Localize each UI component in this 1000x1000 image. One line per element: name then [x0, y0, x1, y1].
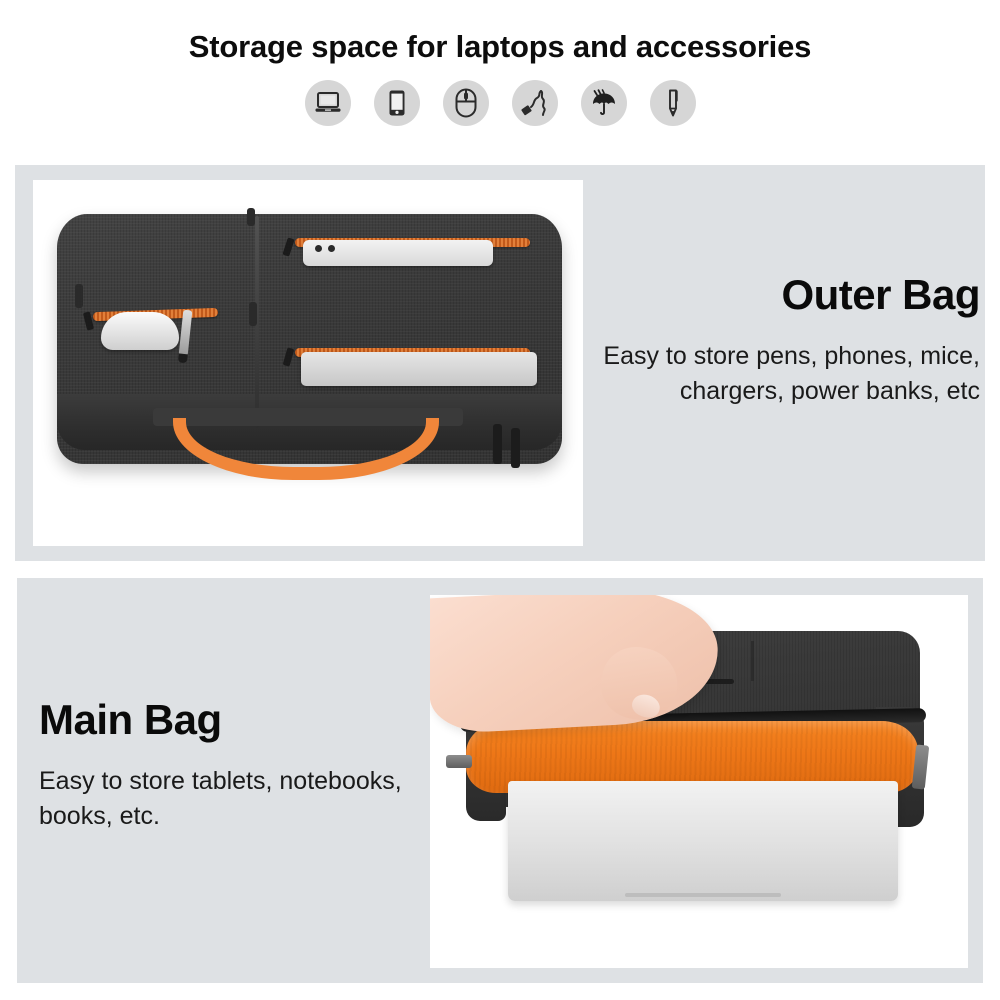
main-zipper-pull-left — [446, 755, 472, 768]
zipper-tab-mid — [249, 302, 257, 326]
feature-icon-row — [0, 80, 1000, 126]
top-tab — [247, 208, 255, 226]
main-bag-copy: Main Bag Easy to store tablets, notebook… — [39, 698, 409, 833]
page-title: Storage space for laptops and accessorie… — [0, 30, 1000, 64]
phone-in-pocket — [303, 240, 493, 266]
outer-bag-heading: Outer Bag — [590, 273, 980, 317]
umbrella-icon — [581, 80, 627, 126]
zipper-tab-left — [75, 284, 83, 308]
header: Storage space for laptops and accessorie… — [0, 0, 1000, 126]
laptop-icon — [305, 80, 351, 126]
charger-icon — [512, 80, 558, 126]
tablet-in-pocket — [301, 352, 537, 386]
carry-handle — [173, 418, 439, 480]
pen-icon — [650, 80, 696, 126]
laptop-inserted — [508, 781, 898, 901]
main-bag-heading: Main Bag — [39, 698, 409, 742]
outer-bag-body: Easy to store pens, phones, mice, charge… — [590, 339, 980, 408]
main-bag-body: Easy to store tablets, notebooks, books,… — [39, 764, 409, 833]
side-zipper-pull-2 — [511, 428, 520, 468]
outer-bag-copy: Outer Bag Easy to store pens, phones, mi… — [590, 273, 980, 408]
mouse-in-pocket — [101, 312, 179, 350]
main-bag-panel: Main Bag Easy to store tablets, notebook… — [17, 578, 983, 983]
side-zipper-pull-1 — [493, 424, 502, 464]
mouse-icon — [443, 80, 489, 126]
phone-icon — [374, 80, 420, 126]
outer-bag-photo — [33, 180, 583, 546]
outer-bag-panel: Outer Bag Easy to store pens, phones, mi… — [15, 165, 985, 561]
main-bag-photo — [430, 595, 968, 968]
